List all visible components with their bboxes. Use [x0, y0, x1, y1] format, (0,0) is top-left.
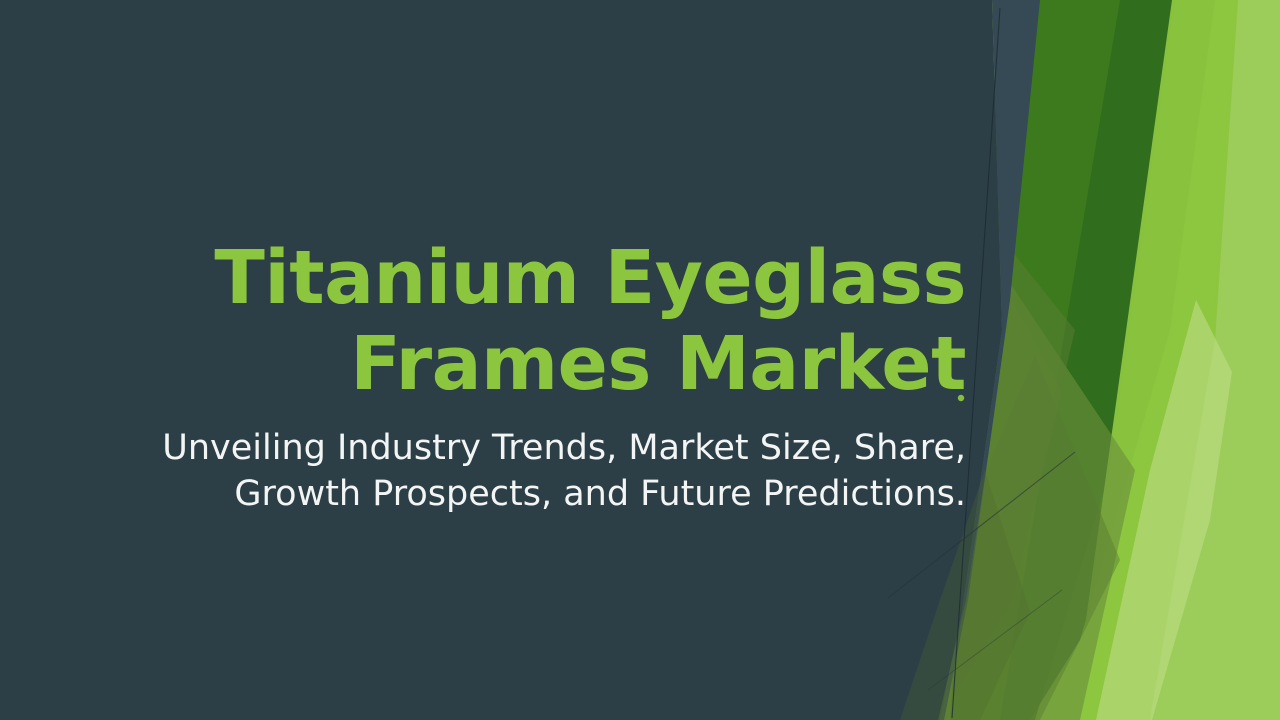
slide-content: Titanium Eyeglass Frames Market Unveilin…: [0, 0, 1280, 720]
subtitle-block: Unveiling Industry Trends, Market Size, …: [140, 426, 966, 517]
page-title: Titanium Eyeglass Frames Market: [140, 236, 966, 408]
presentation-slide: Titanium Eyeglass Frames Market Unveilin…: [0, 0, 1280, 720]
title-block: Titanium Eyeglass Frames Market: [140, 236, 966, 408]
slide-subtitle: Unveiling Industry Trends, Market Size, …: [140, 426, 966, 517]
